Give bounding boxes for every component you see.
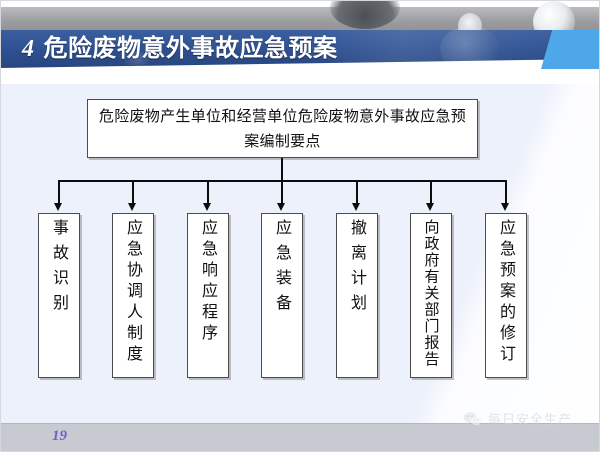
connector-drop-5 [356,180,358,205]
watermark-text: 每日安全生产 [488,409,572,428]
connector-drop-7 [505,180,507,205]
diagram-node-5[interactable]: 撤离计划 [336,213,378,378]
diagram-node-2-label: 应急协调人制度 [125,219,141,366]
diagram-node-1-label: 事故识别 [51,219,67,319]
slide-header: 4危险废物意外事故应急预案 [0,0,600,84]
diagram-root-node[interactable]: 危险废物产生单位和经营单位危险废物意外事故应急预案编制要点 [87,99,478,158]
connector-drop-6 [430,180,432,205]
header-underline [0,69,600,72]
connector-root-stem [281,158,283,181]
diagram-node-7[interactable]: 应急预案的修订 [485,213,527,378]
connector-drop-4 [281,180,283,205]
connector-arrow-2-icon [128,203,136,211]
diagram-node-3[interactable]: 应急响应程序 [187,213,229,378]
section-title-text: 危险废物意外事故应急预案 [44,34,338,62]
connector-drop-2 [132,180,134,205]
connector-drop-1 [58,180,60,205]
decor-bubble-dark-icon [330,0,400,29]
connector-drop-3 [207,180,209,205]
diagram-node-5-label: 撤离计划 [349,219,365,319]
diagram-node-6-label: 向政府有关部门报告 [424,219,439,368]
connector-arrow-7-icon [501,203,509,211]
diagram-node-6[interactable]: 向政府有关部门报告 [410,213,452,378]
header-banner-bubble-icon [440,26,500,72]
diagram-node-4-label: 应急装备 [274,219,290,319]
watermark: 每日安全生产 [463,409,572,428]
connector-arrow-1-icon [54,203,62,211]
diagram-node-1[interactable]: 事故识别 [38,213,80,378]
diagram-root-label: 危险废物产生单位和经营单位危险废物意外事故应急预案编制要点 [96,104,469,154]
diagram-node-7-label: 应急预案的修订 [498,219,514,366]
wechat-icon [463,411,482,427]
header-bubble-decor [0,7,600,34]
diagram-node-4[interactable]: 应急装备 [261,213,303,378]
diagram-node-3-label: 应急响应程序 [200,219,216,345]
slide-canvas: 4危险废物意外事故应急预案 危险废物产生单位和经营单位危险废物意外事故应急预案编… [0,0,600,452]
section-number: 4 [22,36,35,62]
diagram-node-2[interactable]: 应急协调人制度 [112,213,154,378]
connector-arrow-6-icon [426,203,434,211]
page-number: 19 [52,428,67,445]
connector-arrow-5-icon [352,203,360,211]
connector-arrow-3-icon [203,203,211,211]
connector-arrow-4-icon [277,203,285,211]
footer-bar [0,424,600,452]
page-title: 4危险废物意外事故应急预案 [22,31,338,66]
